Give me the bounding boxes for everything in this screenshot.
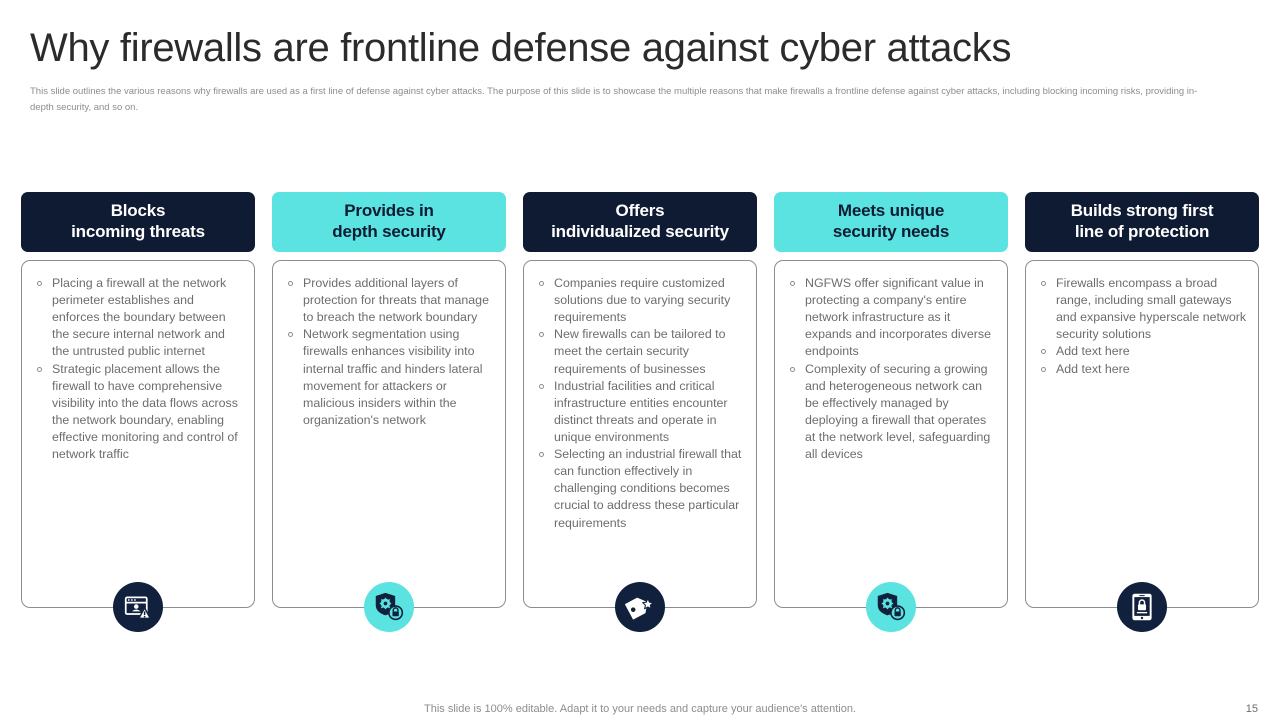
list-item: Companies require customized solutions d… — [532, 275, 746, 326]
bullet-list: Companies require customized solutions d… — [532, 275, 746, 532]
column-header[interactable]: Builds strong firstline of protection — [1025, 192, 1259, 252]
column-5: Builds strong firstline of protectionFir… — [1025, 192, 1259, 608]
column-1: Blocksincoming threatsPlacing a firewall… — [21, 192, 255, 608]
column-header-line2: incoming threats — [71, 222, 205, 241]
footer-note: This slide is 100% editable. Adapt it to… — [0, 703, 1280, 715]
shield-gear-lock-icon — [364, 582, 414, 632]
column-header-line2: individualized security — [551, 222, 729, 241]
column-body: NGFWS offer significant value in protect… — [774, 260, 1008, 608]
slide-description: This slide outlines the various reasons … — [30, 84, 1220, 115]
mobile-lock-icon — [1117, 582, 1167, 632]
column-header[interactable]: Provides indepth security — [272, 192, 506, 252]
column-header[interactable]: Blocksincoming threats — [21, 192, 255, 252]
column-4: Meets uniquesecurity needsNGFWS offer si… — [774, 192, 1008, 608]
slide-root: Why firewalls are frontline defense agai… — [0, 0, 1280, 720]
list-item: Strategic placement allows the firewall … — [30, 361, 244, 464]
bullet-list: NGFWS offer significant value in protect… — [783, 275, 997, 463]
list-item: Add text here — [1034, 343, 1248, 360]
column-header[interactable]: Offersindividualized security — [523, 192, 757, 252]
browser-warning-icon — [113, 582, 163, 632]
bullet-list: Firewalls encompass a broad range, inclu… — [1034, 275, 1248, 378]
column-header-line2: depth security — [332, 222, 445, 241]
list-item: New firewalls can be tailored to meet th… — [532, 326, 746, 377]
columns-container: Blocksincoming threatsPlacing a firewall… — [21, 192, 1263, 608]
column-body: Placing a firewall at the network perime… — [21, 260, 255, 608]
list-item: Placing a firewall at the network perime… — [30, 275, 244, 361]
column-body: Firewalls encompass a broad range, inclu… — [1025, 260, 1259, 608]
column-header-line1: Offers — [616, 201, 665, 220]
list-item: Firewalls encompass a broad range, inclu… — [1034, 275, 1248, 343]
column-header-line1: Provides in — [344, 201, 433, 220]
tag-star-icon — [615, 582, 665, 632]
bullet-list: Provides additional layers of protection… — [281, 275, 495, 429]
page-number: 15 — [1246, 703, 1258, 715]
column-header-line1: Blocks — [111, 201, 166, 220]
list-item: Provides additional layers of protection… — [281, 275, 495, 326]
column-header-line1: Meets unique — [838, 201, 944, 220]
list-item: Network segmentation using firewalls enh… — [281, 326, 495, 429]
shield-gear-lock-icon — [866, 582, 916, 632]
bullet-list: Placing a firewall at the network perime… — [30, 275, 244, 463]
list-item: NGFWS offer significant value in protect… — [783, 275, 997, 361]
list-item: Complexity of securing a growing and het… — [783, 361, 997, 464]
page-title: Why firewalls are frontline defense agai… — [30, 26, 1011, 70]
column-3: Offersindividualized securityCompanies r… — [523, 192, 757, 608]
column-body: Companies require customized solutions d… — [523, 260, 757, 608]
column-header-line1: Builds strong first — [1071, 201, 1214, 220]
column-header-line2: line of protection — [1075, 222, 1209, 241]
list-item: Add text here — [1034, 361, 1248, 378]
list-item: Industrial facilities and critical infra… — [532, 378, 746, 446]
column-body: Provides additional layers of protection… — [272, 260, 506, 608]
list-item: Selecting an industrial firewall that ca… — [532, 446, 746, 532]
column-header-line2: security needs — [833, 222, 949, 241]
column-header[interactable]: Meets uniquesecurity needs — [774, 192, 1008, 252]
column-2: Provides indepth securityProvides additi… — [272, 192, 506, 608]
